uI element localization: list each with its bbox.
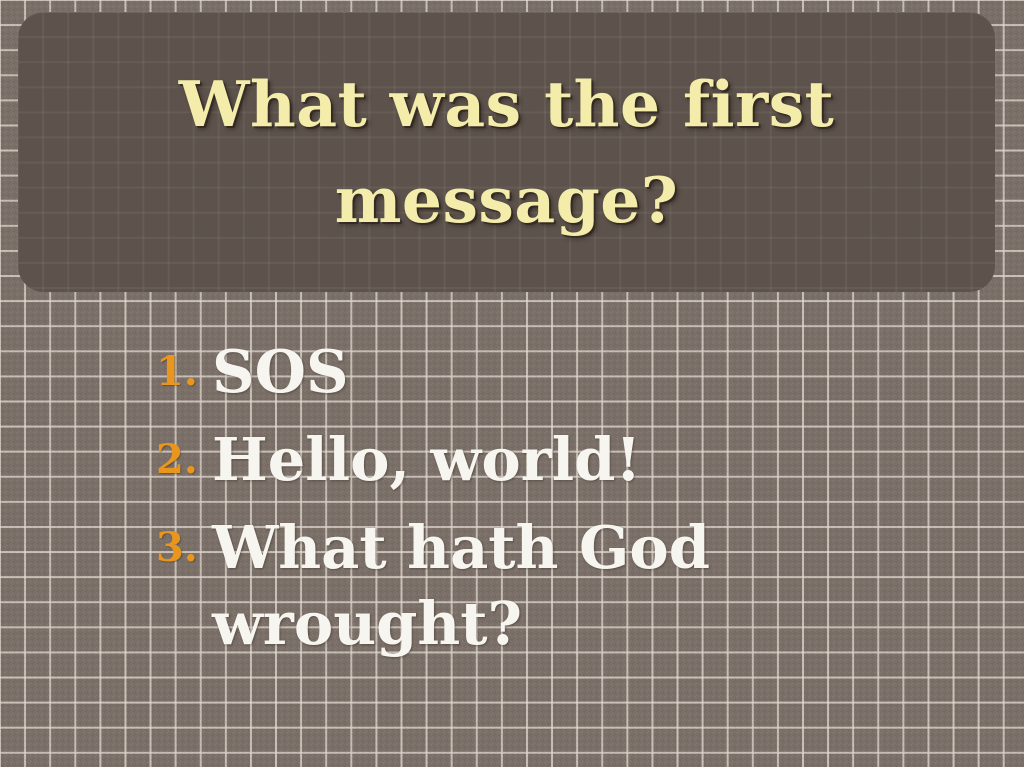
answer-text: Hello, world! <box>212 422 910 498</box>
slide-title: What was the first message? <box>18 56 995 248</box>
answer-number: 1. <box>150 334 212 410</box>
answer-number: 2. <box>150 422 212 498</box>
quiz-slide: What was the first message? 1. SOS 2. He… <box>0 0 1024 767</box>
title-panel: What was the first message? <box>18 12 995 292</box>
list-item[interactable]: 1. SOS <box>150 334 910 410</box>
answer-list: 1. SOS 2. Hello, world! 3. What hath God… <box>150 334 910 674</box>
answer-text: What hath God wrought? <box>212 510 910 662</box>
list-item[interactable]: 3. What hath God wrought? <box>150 510 910 662</box>
list-item[interactable]: 2. Hello, world! <box>150 422 910 498</box>
answer-number: 3. <box>150 510 212 586</box>
answer-text: SOS <box>212 334 910 410</box>
